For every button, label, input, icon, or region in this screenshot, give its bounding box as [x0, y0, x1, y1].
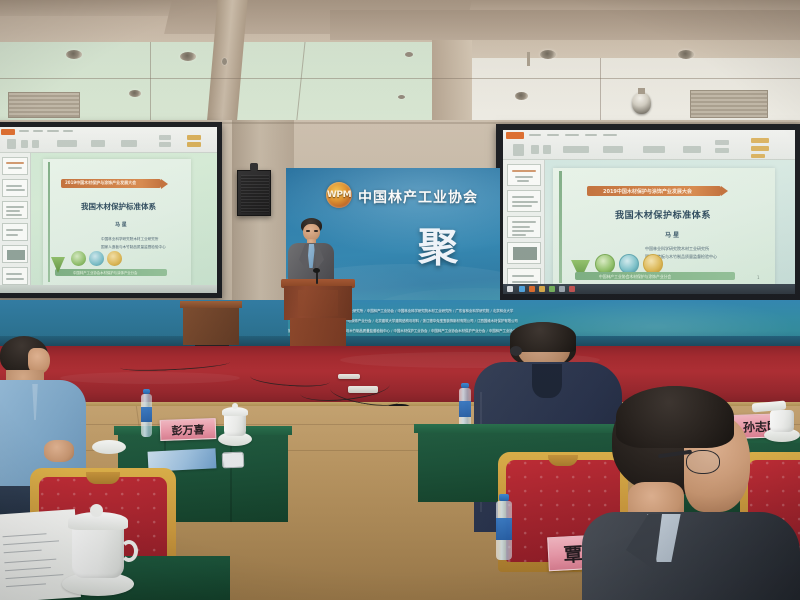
right-slide-band-tip	[721, 186, 728, 196]
right-ribbon-icon-12	[751, 154, 765, 158]
right-thumb-1	[507, 164, 541, 186]
dome-camera-icon	[632, 92, 651, 114]
left-thumb-6	[2, 267, 28, 285]
side-table-top	[180, 301, 242, 308]
right-slide-presenter: 马 星	[665, 230, 679, 239]
banner-organization: 中国林产工业协会	[358, 187, 478, 207]
right-ribbon-icon-4	[563, 146, 589, 153]
smartphone	[222, 452, 245, 469]
left-ribbon-icon-7	[159, 135, 171, 140]
right-slide-affil-1: 中国林业科学研究院木材工业研究所	[645, 246, 709, 252]
right-ribbon-icon-11	[751, 146, 769, 151]
downlight-icon-4	[540, 50, 556, 59]
left-slide-emblem-1	[71, 251, 86, 266]
sprinkler-icon-3	[398, 95, 405, 99]
right-slide-accent-bar	[559, 171, 562, 283]
ceiling-rib-2	[432, 40, 472, 128]
right-ribbon-tab-5	[603, 134, 617, 136]
left-ribbon-icon-8	[159, 142, 171, 147]
right-ppt-file-tab	[506, 132, 524, 139]
ceiling-grid-line-4	[600, 58, 601, 128]
right-ribbon-tab-1	[529, 134, 541, 136]
right-slide-emblem-3	[643, 254, 663, 274]
right-projection-screen: 2019中国木材保护与涂饰产业发展大会 我国木材保护标准体系 马 星 中国林业科…	[496, 124, 800, 300]
left-slide-footer: 中国林产工业协会木材保护与涂饰产业分会	[73, 270, 137, 275]
ceiling-beam-right	[330, 10, 800, 40]
taskbar-icon-1	[519, 286, 525, 292]
attendee-left-hand	[44, 440, 74, 462]
speaker-bracket	[250, 163, 258, 171]
wpm-logo-icon: WPM	[326, 182, 352, 208]
left-ribbon-icon-9	[187, 135, 201, 140]
attendee-right	[598, 386, 800, 600]
right-ribbon-tab-2	[547, 134, 559, 136]
left-slide: 2019中国木材保护与涂饰产业发展大会 我国木材保护标准体系 马 星 中国林业科…	[43, 159, 191, 285]
right-thumb-2	[507, 190, 541, 212]
left-thumb-5	[2, 245, 28, 263]
left-thumb-2	[2, 179, 28, 197]
left-ribbon-tab-2	[33, 130, 43, 132]
taskbar-start-icon	[507, 286, 513, 292]
left-ribbon-icon-1	[7, 139, 16, 149]
left-ribbon-icon-2	[21, 140, 28, 148]
ceiling-stem	[527, 52, 530, 66]
right-ribbon-icon-1	[513, 144, 524, 156]
speaker-eye-right	[314, 230, 318, 232]
right-ribbon-tab-3	[565, 134, 579, 136]
attendee-right-jacket	[582, 512, 800, 600]
left-thumbnail-rail	[0, 153, 31, 293]
attendee-right-hair-top	[616, 386, 734, 448]
wpm-logo-text: WPM	[327, 190, 351, 200]
ceiling-vent-left	[8, 92, 80, 118]
downlight-icon-6	[515, 92, 528, 100]
nameplate-peng-text: 彭万喜	[171, 421, 205, 438]
right-ribbon-icon-5	[603, 146, 623, 153]
taskbar-icon-5	[559, 286, 565, 292]
conference-hall-photo: 2019中国木材保护与涂饰产业发展大会 我国木材保护标准体系 马 星 中国林业科…	[0, 0, 800, 600]
taskbar-icon-6	[569, 286, 575, 292]
taskbar-icon-2	[529, 286, 535, 292]
sprinkler-icon-2	[222, 58, 227, 65]
dome-camera-mount	[638, 88, 645, 94]
banner-bottom-edge	[0, 336, 800, 346]
downlight-icon-2	[180, 52, 196, 61]
left-ribbon-icon-5	[91, 140, 105, 147]
downlight-icon-3	[129, 90, 141, 97]
right-ribbon-icon-2	[531, 145, 539, 154]
right-ribbon-icon-10	[751, 138, 769, 143]
podium-microphone-stem	[316, 272, 318, 284]
podium-panel	[298, 290, 338, 316]
side-table	[183, 305, 239, 345]
chair-2-notch	[548, 455, 578, 466]
water-bottle-3	[495, 494, 513, 560]
right-screen-surface: 2019中国木材保护与涂饰产业发展大会 我国木材保护标准体系 马 星 中国林业科…	[503, 130, 795, 294]
ceiling-grid-line-1	[0, 78, 800, 79]
speaker-person	[288, 218, 334, 288]
right-ppt-ribbon	[503, 130, 795, 160]
right-ribbon-icon-9	[715, 148, 729, 153]
ceiling-grid-line-2	[150, 42, 151, 128]
right-slide-emblem-1	[595, 254, 615, 274]
left-ppt-ribbon	[0, 127, 217, 153]
left-slide-presenter: 马 星	[115, 221, 127, 228]
chair-1-notch	[86, 472, 120, 484]
right-ribbon-icon-8	[715, 140, 729, 145]
right-thumb-4	[507, 242, 541, 264]
right-ribbon-tab-4	[585, 134, 597, 136]
downlight-icon-1	[66, 50, 82, 59]
left-ppt-statusbar	[0, 285, 217, 293]
nameplate-peng: 彭万喜	[160, 418, 217, 441]
right-slide-emblem-2	[619, 254, 639, 274]
left-screen-surface: 2019中国木材保护与涂饰产业发展大会 我国木材保护标准体系 马 星 中国林业科…	[0, 127, 217, 293]
left-ribbon-icon-10	[187, 142, 201, 147]
power-strip	[348, 386, 378, 393]
left-ribbon-icon-3	[32, 140, 39, 148]
taskbar-icon-4	[549, 286, 555, 292]
left-thumb-4	[2, 223, 28, 241]
right-ribbon-icon-6	[643, 146, 665, 153]
right-slide: 2019中国木材保护与涂饰产业发展大会 我国木材保护标准体系 马 星 中国林业科…	[553, 168, 775, 286]
attendee-center-glasses-arm	[510, 346, 522, 356]
left-ribbon-icon-6	[121, 140, 137, 147]
downlight-icon-5	[678, 50, 694, 59]
table-center-top	[414, 424, 622, 433]
wall-loudspeaker	[237, 170, 271, 216]
left-slide-band-tip	[161, 179, 168, 189]
right-windows-taskbar	[503, 284, 795, 294]
right-ribbon-icon-7	[683, 146, 701, 153]
left-ribbon-icon-4	[57, 140, 77, 147]
right-thumbnail-rail	[503, 160, 545, 285]
left-slide-accent-bar	[48, 162, 50, 282]
taskbar-icon-3	[539, 286, 545, 292]
speaker-eye-left	[306, 230, 310, 232]
right-thumb-3	[507, 216, 541, 238]
right-ribbon-icon-3	[543, 145, 551, 154]
teacup-2-knob	[90, 504, 103, 517]
left-thumb-1	[2, 157, 28, 175]
teacup-2	[72, 524, 124, 578]
teacup-2-handle	[120, 540, 138, 562]
left-ribbon-tab-3	[47, 130, 59, 132]
podium-microphone-head	[313, 268, 320, 273]
right-slide-footer: 中国林产工业协会木材保护与涂饰产业分会	[599, 274, 671, 280]
left-slide-band-text: 2019中国木材保护与涂饰产业发展大会	[65, 180, 136, 186]
water-bottle-1	[140, 389, 153, 437]
sprinkler-icon-1	[405, 52, 413, 57]
power-adapter	[338, 374, 360, 379]
left-slide-emblem-3	[107, 251, 122, 266]
left-ribbon-tab-1	[19, 130, 29, 132]
ceiling-vent-right	[690, 90, 768, 118]
teacup-1-knob	[232, 403, 238, 409]
left-slide-title: 我国木材保护标准体系	[81, 201, 156, 212]
left-ppt-file-tab	[1, 129, 15, 135]
left-slide-emblem-2	[89, 251, 104, 266]
left-slide-affil-1: 中国林业科学研究院木材工业研究所	[101, 237, 159, 242]
right-slide-band-text: 2019中国木材保护与涂饰产业发展大会	[603, 188, 692, 195]
ceiling	[0, 0, 800, 128]
attendee-center-collar	[532, 364, 562, 398]
left-ribbon-tab-4	[63, 130, 73, 132]
right-slide-title: 我国木材保护标准体系	[615, 208, 711, 221]
left-projection-screen: 2019中国木材保护与涂饰产业发展大会 我国木材保护标准体系 马 星 中国林业科…	[0, 122, 222, 298]
left-slide-affil-2: 国家人造板与木竹制品质量监督检验中心	[101, 245, 166, 250]
small-plate-left	[92, 440, 126, 454]
right-slide-page: 1	[757, 275, 760, 280]
banner-feature-char: 聚	[418, 228, 458, 268]
attendee-right-glasses	[686, 450, 720, 474]
left-thumb-3	[2, 201, 28, 219]
